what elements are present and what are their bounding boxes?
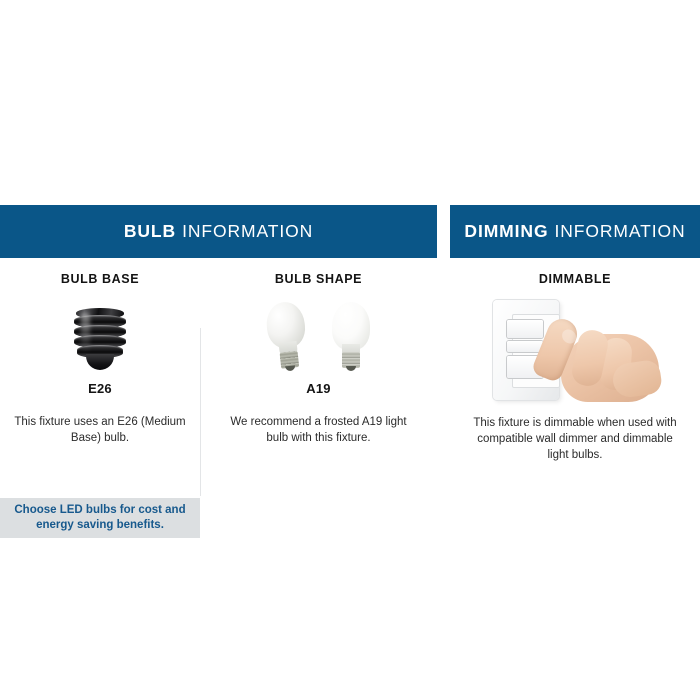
bulb-shape-description: We recommend a frosted A19 light bulb wi…	[221, 396, 417, 446]
bulb-header-strong: BULB	[124, 221, 176, 242]
dimming-header-light: INFORMATION	[554, 221, 685, 242]
bulb-shape-spec: A19	[200, 381, 437, 396]
dimming-information-header: DIMMING INFORMATION	[450, 205, 700, 258]
bulb-header-light: INFORMATION	[182, 221, 313, 242]
hand-icon	[531, 312, 663, 404]
bulb-base-spec: E26	[0, 381, 200, 396]
bulb-base-column: BULB BASE E26 This fixture uses an E26 (…	[0, 258, 200, 538]
dimmable-description: This fixture is dimmable when used with …	[467, 403, 683, 463]
bulb-shape-title: BULB SHAPE	[200, 272, 437, 286]
dimmable-column: DIMMABLE	[450, 258, 700, 538]
bulb-base-description: This fixture uses an E26 (Medium Base) b…	[12, 396, 188, 446]
bulb-base-title: BULB BASE	[0, 272, 200, 286]
bulb-dimming-info-card: BULB INFORMATION BULB BASE	[0, 0, 700, 700]
frosted-incandescent-bulb-icon	[261, 300, 312, 374]
e26-screw-base-icon	[0, 300, 200, 372]
bulb-information-header: BULB INFORMATION	[0, 205, 437, 258]
bulb-shape-column: BULB SHAPE	[200, 258, 437, 538]
led-callout-text: Choose LED bulbs for cost and energy sav…	[9, 503, 191, 533]
a19-bulbs-icon	[200, 300, 437, 372]
dimming-information-panel: DIMMING INFORMATION DIMMABLE	[450, 205, 700, 538]
dimming-header-strong: DIMMING	[464, 221, 548, 242]
led-callout-box: Choose LED bulbs for cost and energy sav…	[0, 498, 200, 538]
dimmable-title: DIMMABLE	[450, 272, 700, 286]
led-bulb-icon	[329, 302, 373, 372]
wall-dimmer-switch-icon	[450, 298, 700, 403]
dimming-information-body: DIMMABLE	[450, 258, 700, 538]
bulb-information-panel: BULB INFORMATION BULB BASE	[0, 205, 437, 538]
bulb-information-body: BULB BASE E26 This fixture uses an E26 (…	[0, 258, 437, 538]
